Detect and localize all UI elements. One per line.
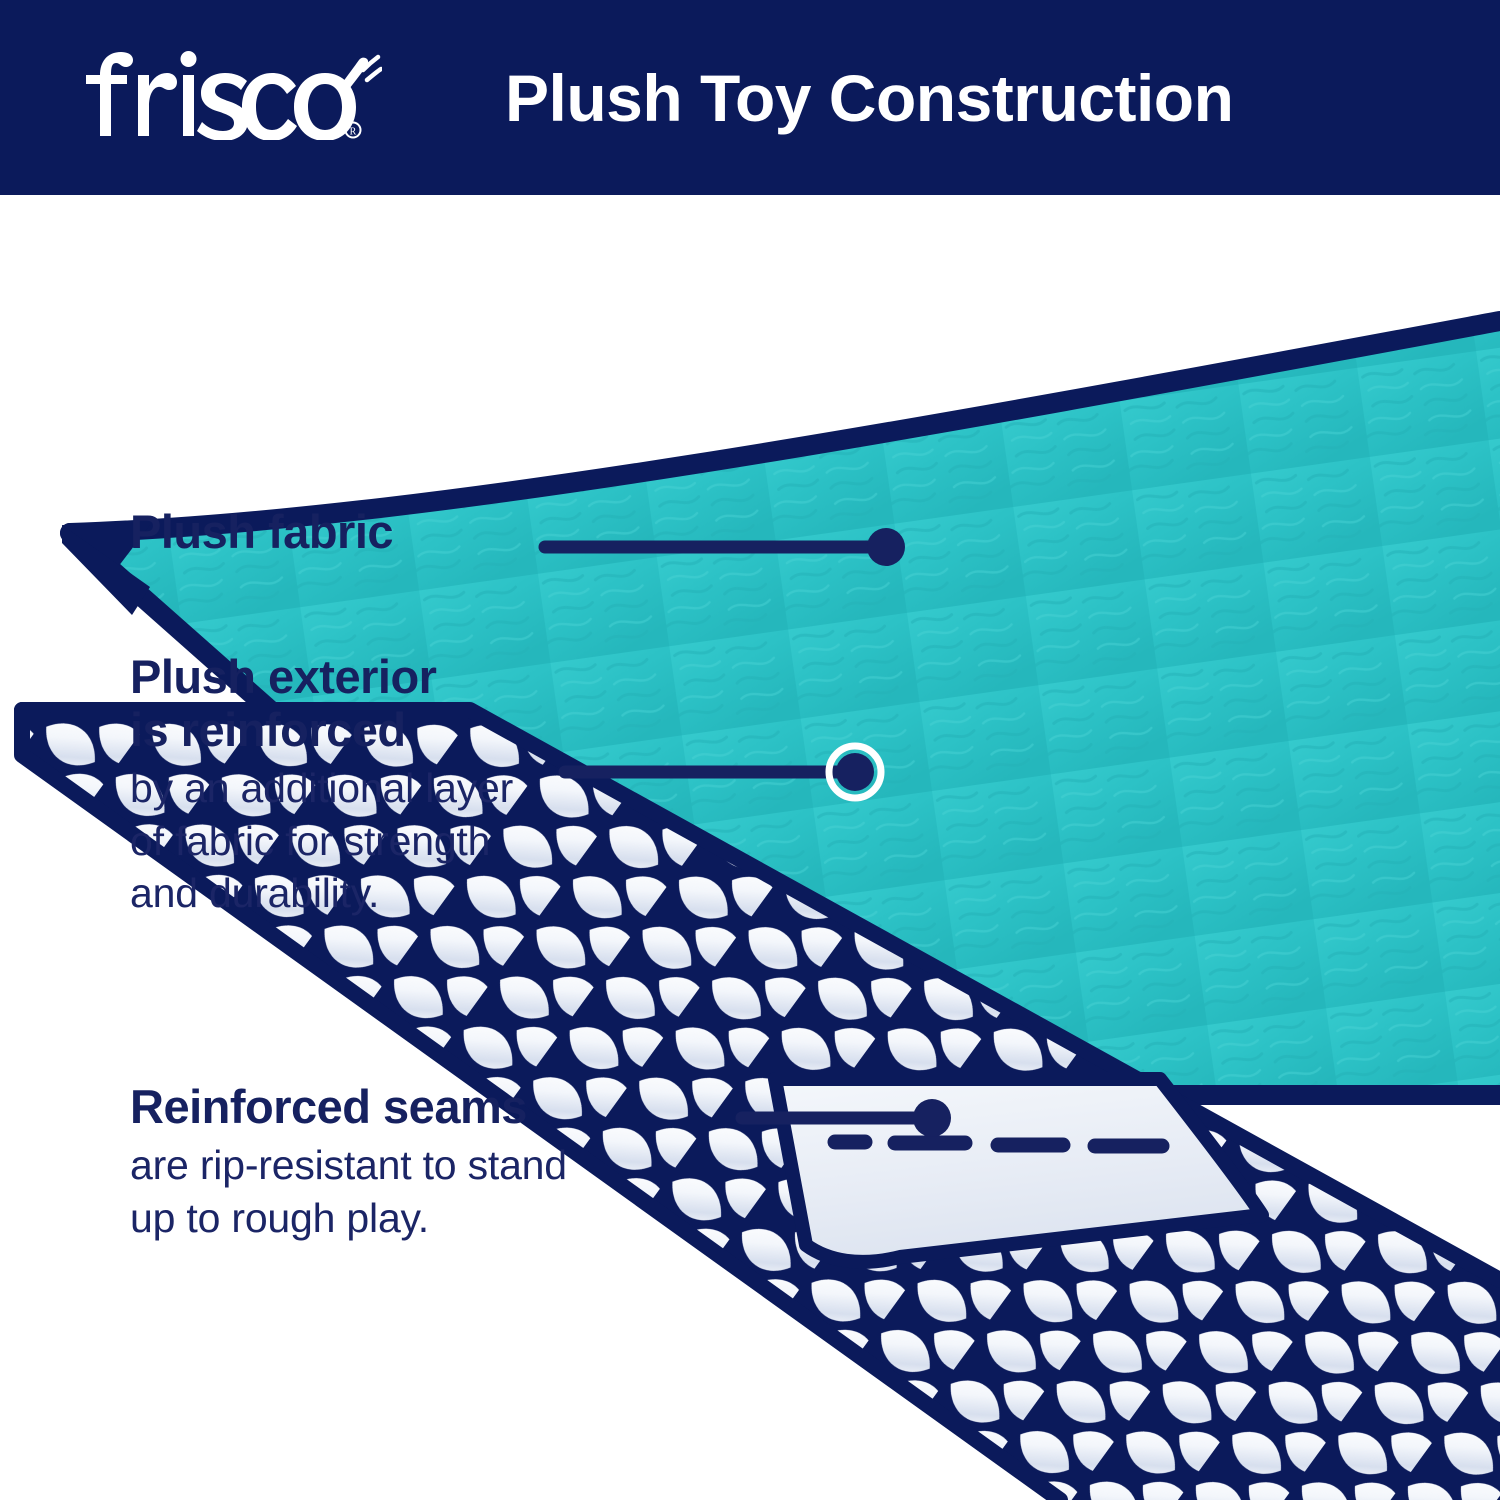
- callout-plush-fabric: Plush fabric: [130, 505, 560, 558]
- callout-body: by an additional layer of fabric for str…: [130, 762, 730, 919]
- page-title: Plush Toy Construction: [505, 0, 1233, 195]
- callout-plush-exterior-reinforced: Plush exterior is reinforced by an addit…: [130, 650, 730, 920]
- callout-title: Plush fabric: [130, 505, 560, 558]
- frisco-logo: R: [82, 48, 382, 140]
- infographic-page: R Plush Toy Construction: [0, 0, 1500, 1500]
- callout-title: Plush exterior is reinforced: [130, 650, 730, 756]
- callout-title: Reinforced seams: [130, 1080, 790, 1133]
- svg-text:R: R: [350, 127, 357, 138]
- callout-body: are rip-resistant to stand up to rough p…: [130, 1139, 790, 1244]
- callout-reinforced-seams: Reinforced seams are rip-resistant to st…: [130, 1080, 790, 1244]
- header-bar: R Plush Toy Construction: [0, 0, 1500, 195]
